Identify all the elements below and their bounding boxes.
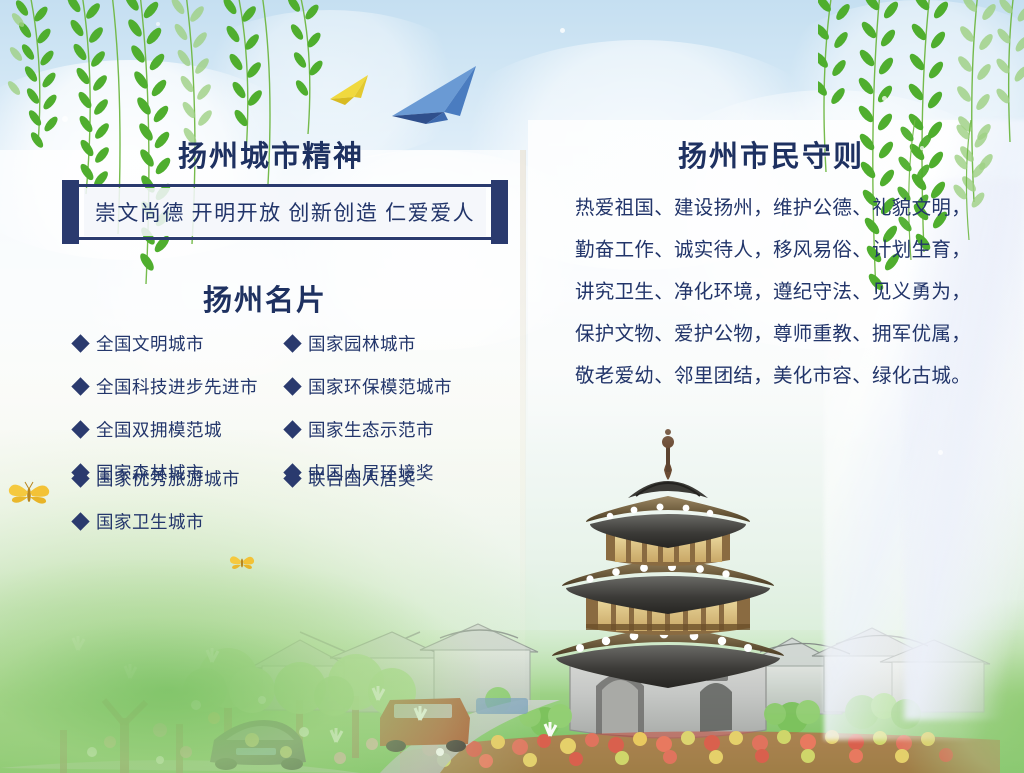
pagoda-tower [552, 429, 784, 738]
diamond-bullet-icon [71, 420, 89, 438]
banner-left-bar [62, 180, 79, 244]
banner-inner-panel: 崇文尚德 开明开放 创新创造 仁爱爱人 [84, 188, 486, 236]
city-spirit-title: 扬州城市精神 [178, 133, 364, 175]
diamond-bullet-icon [283, 420, 301, 438]
rule-line: 勤奋工作、诚实待人，移风易俗、计划生育， [575, 230, 975, 272]
diamond-bullet-icon [283, 377, 301, 395]
list-item-label: 全国双拥模范城 [96, 417, 222, 442]
list-item: 全国文明城市 [74, 322, 286, 365]
list-item: 国家园林城市 [286, 322, 504, 365]
rule-line: 热爱祖国、建设扬州，维护公德、礼貌文明， [575, 188, 975, 230]
list-item: 联合国人居奖 [286, 466, 416, 491]
city-spirit-motto-banner: 崇文尚德 开明开放 创新创造 仁爱爱人 [62, 180, 508, 244]
list-item-label: 国家环保模范城市 [308, 374, 452, 399]
banner-right-bar [491, 180, 508, 244]
list-item-label: 国家卫生城市 [96, 509, 204, 534]
diamond-bullet-icon [71, 512, 89, 530]
diamond-bullet-icon [283, 469, 301, 487]
list-item: 国家生态示范市 [286, 408, 504, 451]
list-item: 全国双拥模范城 [74, 408, 286, 451]
poster-canvas: 扬州城市精神 崇文尚德 开明开放 创新创造 仁爱爱人 扬州名片 全国文明城市 全… [0, 0, 1024, 773]
city-spirit-motto-text: 崇文尚德 开明开放 创新创造 仁爱爱人 [95, 197, 475, 227]
rule-line: 保护文物、爱护公物，尊师重教、拥军优属， [575, 314, 975, 356]
diamond-bullet-icon [71, 469, 89, 487]
list-item: 国家卫生城市 [74, 509, 204, 534]
list-item: 国家优秀旅游城市 [74, 466, 240, 491]
citizen-rules-title: 扬州市民守则 [678, 133, 864, 175]
list-item: 国家环保模范城市 [286, 365, 504, 408]
citizen-rules-list: 热爱祖国、建设扬州，维护公德、礼貌文明， 勤奋工作、诚实待人，移风易俗、计划生育… [575, 188, 975, 398]
list-item-label: 全国文明城市 [96, 331, 204, 356]
list-item-label: 国家生态示范市 [308, 417, 434, 442]
list-item-label: 国家优秀旅游城市 [96, 466, 240, 491]
list-item-label: 联合国人居奖 [308, 466, 416, 491]
rule-line: 讲究卫生、净化环境，遵纪守法、见义勇为， [575, 272, 975, 314]
rule-line: 敬老爱幼、邻里团结，美化市容、绿化古城。 [575, 356, 975, 398]
city-cards-title: 扬州名片 [203, 277, 327, 319]
banner-top-rule [70, 184, 500, 187]
diamond-bullet-icon [71, 334, 89, 352]
list-item-label: 国家园林城市 [308, 331, 416, 356]
list-item-label: 全国科技进步先进市 [96, 374, 258, 399]
panel-divider [520, 150, 526, 690]
diamond-bullet-icon [283, 334, 301, 352]
list-item: 全国科技进步先进市 [74, 365, 286, 408]
diamond-bullet-icon [71, 377, 89, 395]
banner-bottom-rule [70, 237, 500, 240]
